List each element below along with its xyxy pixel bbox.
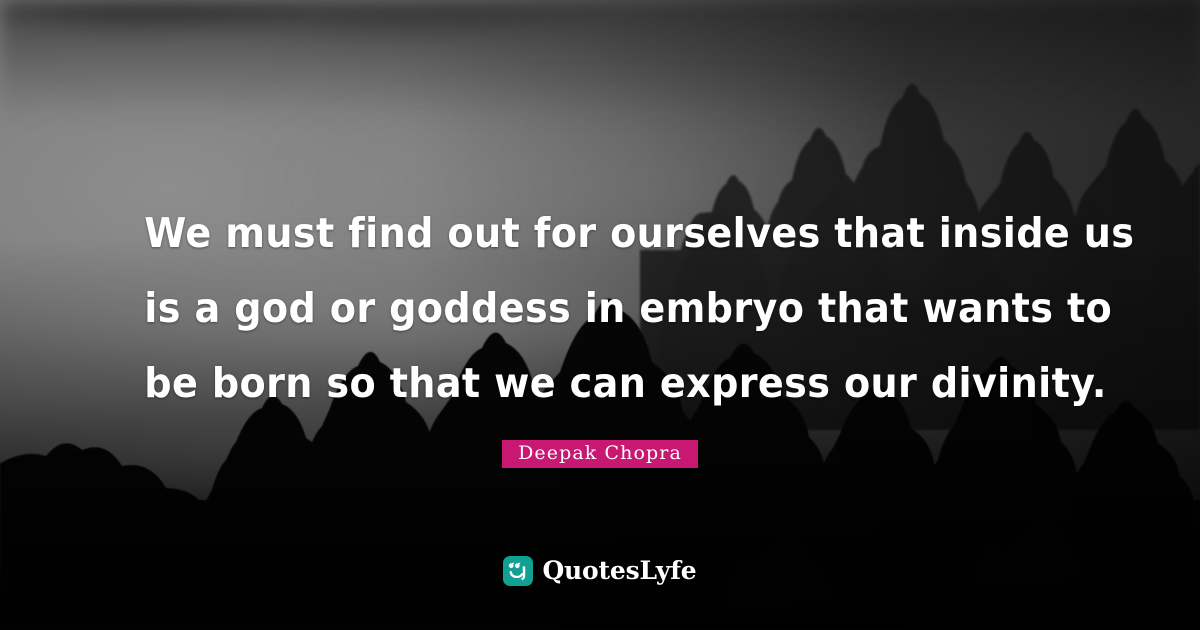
quote-card: We must find out for ourselves that insi… xyxy=(0,0,1200,630)
quote-line-2: is a god or goddess in embryo that wants… xyxy=(144,271,1055,346)
author-attribution: Deepak Chopra xyxy=(0,440,1200,468)
quote-line-1: We must find out for ourselves that insi… xyxy=(144,196,1055,271)
quote-smiley-icon xyxy=(503,556,533,586)
brand-name-text: QuotesLyfe xyxy=(542,557,696,585)
quote-text: We must find out for ourselves that insi… xyxy=(0,196,1200,421)
quote-line-3: be born so that we can express our divin… xyxy=(144,346,1055,421)
card-content: We must find out for ourselves that insi… xyxy=(0,0,1200,630)
author-name-badge[interactable]: Deepak Chopra xyxy=(502,440,698,468)
brand-logo[interactable]: QuotesLyfe xyxy=(0,556,1200,586)
